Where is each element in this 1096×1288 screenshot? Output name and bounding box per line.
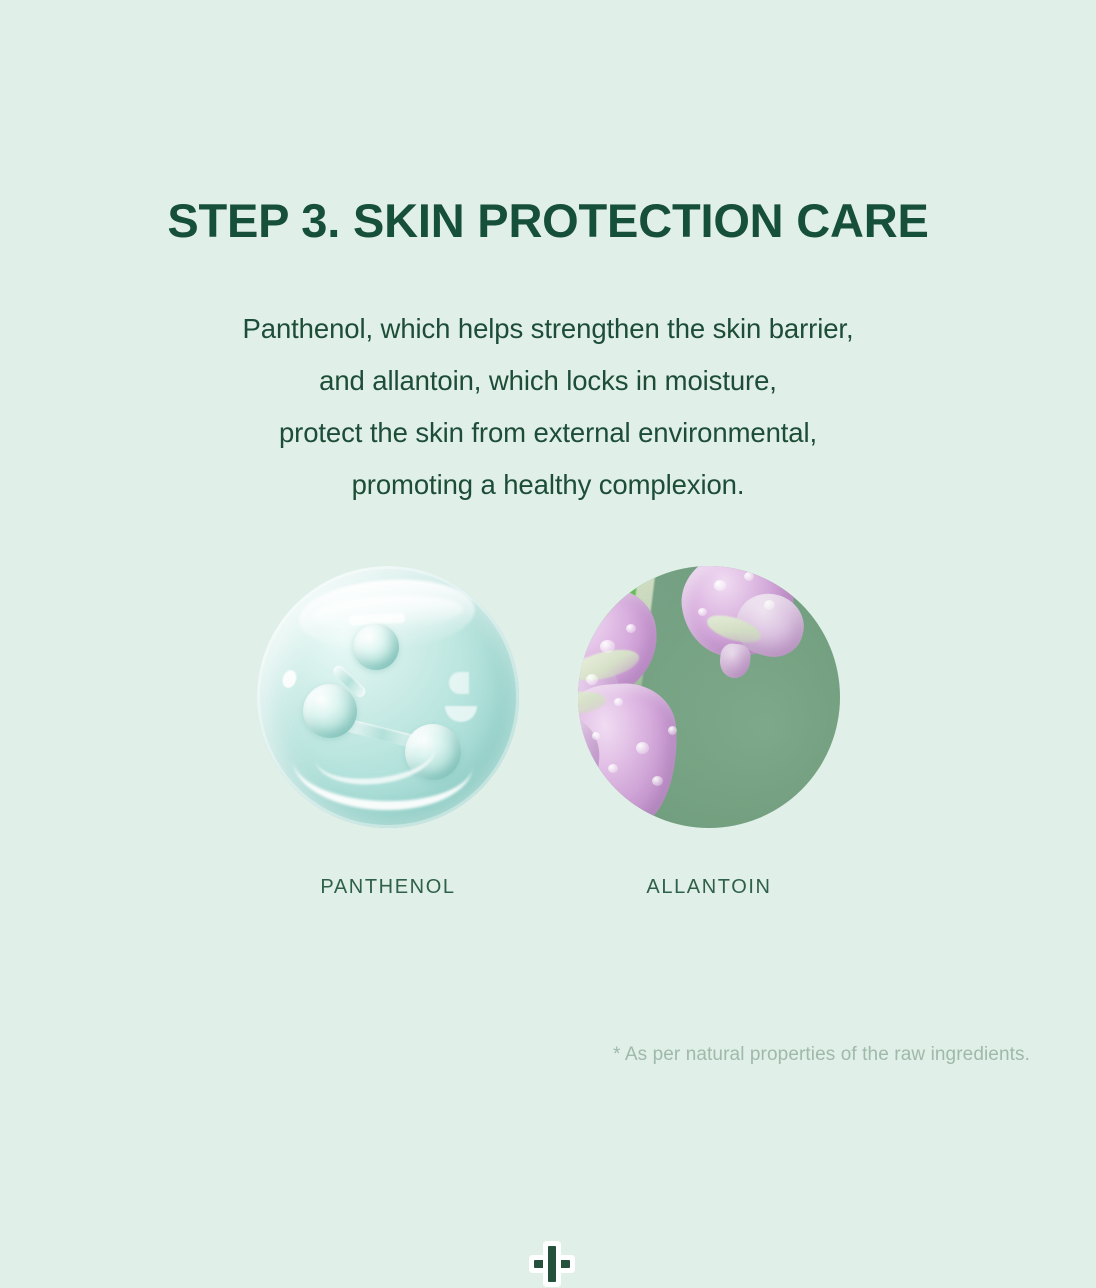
- description-line-4: promoting a healthy complexion.: [0, 459, 1096, 511]
- photo-shading: [578, 566, 840, 828]
- description-line-2: and allantoin, which locks in moisture,: [0, 355, 1096, 407]
- ingredients-row: [0, 566, 1096, 906]
- plus-icon-vertical-bar: [548, 1246, 556, 1282]
- plus-icon: [528, 1240, 576, 1288]
- ingredient-label-panthenol: PANTHENOL: [257, 876, 519, 899]
- footnote-text: * As per natural properties of the raw i…: [613, 1044, 1030, 1066]
- page-title: STEP 3. SKIN PROTECTION CARE: [0, 193, 1096, 248]
- ingredient-allantoin: [578, 566, 840, 828]
- molecule-atom-top: [353, 624, 399, 670]
- description-line-1: Panthenol, which helps strengthen the sk…: [0, 303, 1096, 355]
- description-line-3: protect the skin from external environme…: [0, 407, 1096, 459]
- panthenol-sphere-image: [257, 566, 519, 828]
- ingredient-panthenol: [257, 566, 519, 828]
- ingredient-label-allantoin: ALLANTOIN: [578, 876, 840, 899]
- promo-page: STEP 3. SKIN PROTECTION CARE Panthenol, …: [0, 0, 1096, 1116]
- description-block: Panthenol, which helps strengthen the sk…: [0, 303, 1096, 511]
- allantoin-flower-image: [578, 566, 840, 828]
